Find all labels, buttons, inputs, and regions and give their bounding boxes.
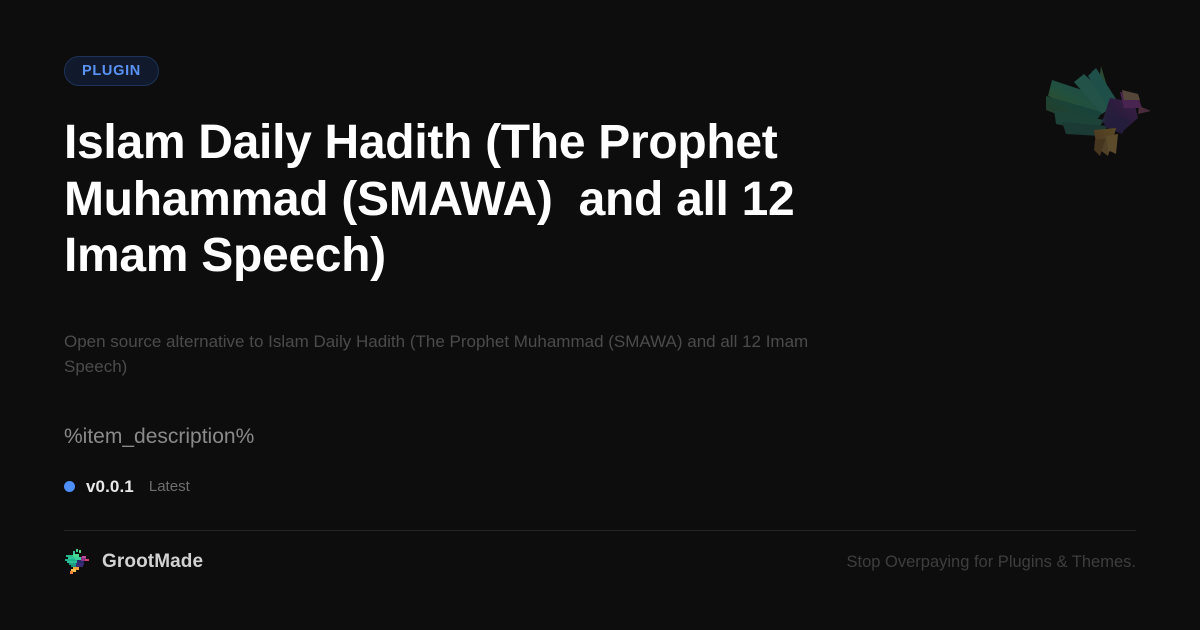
release-status-dot-icon: [64, 481, 75, 492]
page-title: Islam Daily Hadith (The Prophet Muhammad…: [64, 115, 874, 285]
card-footer: GrootMade Stop Overpaying for Plugins & …: [64, 545, 1136, 579]
badge-row: PLUGIN: [64, 56, 1136, 86]
footer-tagline: Stop Overpaying for Plugins & Themes.: [846, 553, 1136, 572]
release-row: v0.0.1 Latest: [64, 477, 1136, 497]
brand: GrootMade: [64, 548, 203, 576]
release-latest-tag: Latest: [149, 478, 190, 495]
page-subtitle: Open source alternative to Islam Daily H…: [64, 329, 874, 379]
hummingbird-logo-icon: [64, 548, 90, 576]
footer-divider: [64, 530, 1136, 531]
status-badge: PLUGIN: [64, 56, 159, 86]
release-version: v0.0.1: [86, 477, 134, 497]
brand-name: GrootMade: [102, 551, 203, 573]
plugin-card: PLUGIN: [0, 0, 1200, 630]
item-description: %item_description%: [64, 423, 1136, 451]
